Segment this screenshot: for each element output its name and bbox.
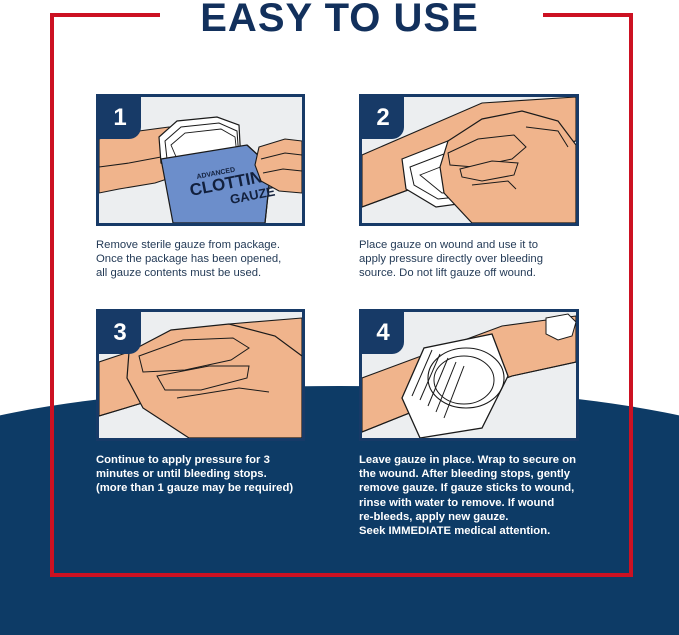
step-item: 2 Place gauze on wound and use it to app… — [359, 94, 579, 281]
step-number-badge: 3 — [99, 312, 141, 354]
step-item: 4 Leave gauze in place. Wrap to secure o… — [359, 309, 579, 538]
step-1-illustration: ADVANCED CLOTTING GAUZE 1 — [96, 94, 305, 226]
step-number-badge: 1 — [99, 97, 141, 139]
step-item: ADVANCED CLOTTING GAUZE 1 Remove sterile… — [96, 94, 305, 281]
page-title: EASY TO USE — [0, 0, 679, 41]
red-frame-left-segment — [50, 13, 54, 577]
step-3-illustration: 3 — [96, 309, 305, 441]
step-caption: Remove sterile gauze from package. Once … — [96, 238, 305, 281]
step-item: 3 Continue to apply pressure for 3 minut… — [96, 309, 305, 496]
step-2-illustration: 2 — [359, 94, 579, 226]
step-4-illustration: 4 — [359, 309, 579, 441]
step-caption: Continue to apply pressure for 3 minutes… — [96, 453, 305, 496]
instruction-poster: EASY TO USE ADVANCED CLOTTIN — [0, 0, 679, 635]
step-number-badge: 4 — [362, 312, 404, 354]
red-frame-bottom-segment — [50, 573, 633, 577]
red-frame-right-segment — [629, 13, 633, 577]
steps-grid: ADVANCED CLOTTING GAUZE 1 Remove sterile… — [0, 0, 679, 635]
step-caption: Place gauze on wound and use it to apply… — [359, 238, 579, 281]
step-number-badge: 2 — [362, 97, 404, 139]
step-caption: Leave gauze in place. Wrap to secure on … — [359, 453, 579, 538]
